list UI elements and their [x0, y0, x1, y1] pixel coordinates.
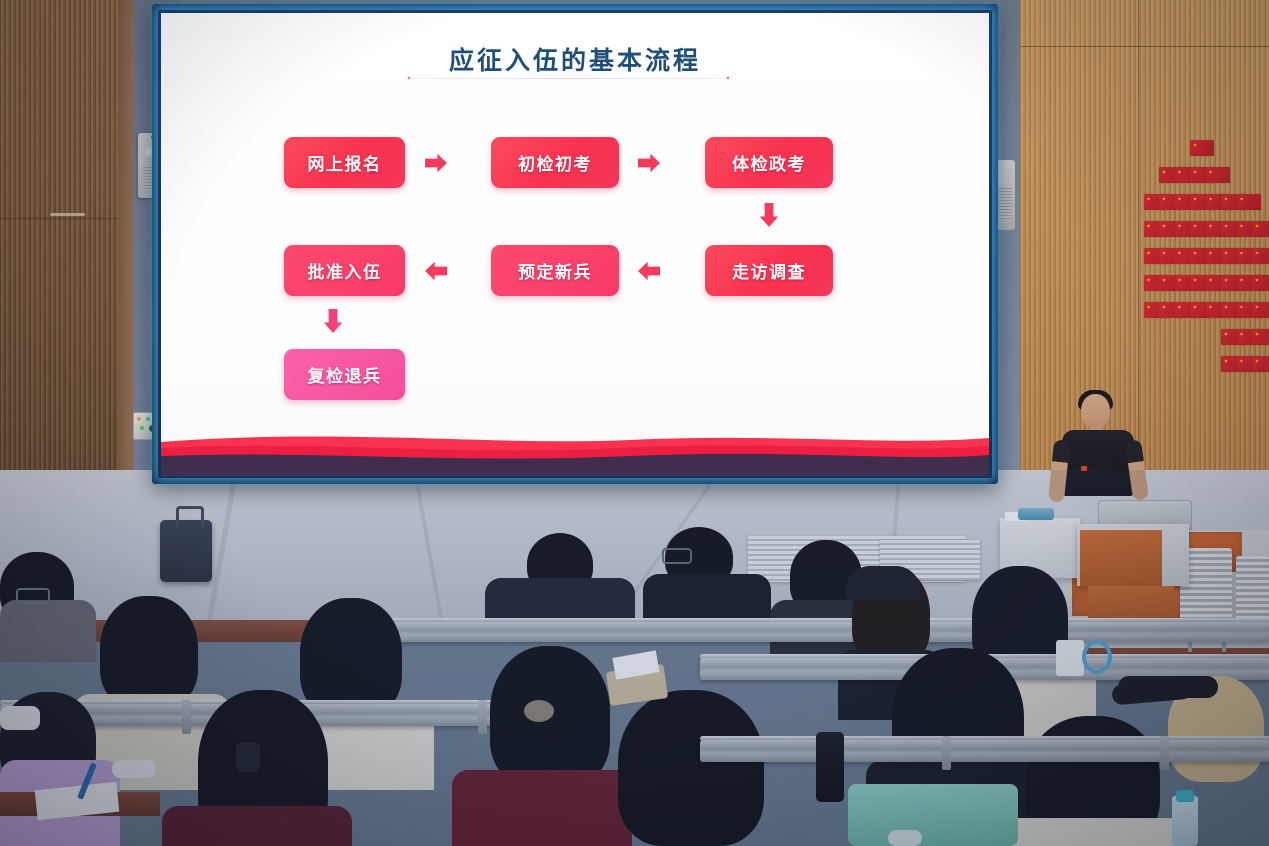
face-mask-icon: [0, 706, 40, 730]
student-body: [1004, 818, 1184, 846]
teal-backpack: [848, 784, 1018, 846]
china-flag-icon: [1252, 275, 1269, 291]
flow-step-4: 走访调查: [705, 245, 833, 296]
glasses-icon: [662, 548, 692, 564]
flow-step-7: 复检退兵: [284, 349, 405, 400]
podium-blue-item: [1018, 508, 1054, 520]
desk-row: [330, 622, 1269, 642]
paper-cup: [1056, 640, 1084, 676]
podium-front-panel: [1080, 530, 1162, 586]
projection-screen: 应征入伍的基本流程 网上报名 初检初考 体检政考 走访调查 预定新兵 批准入伍 …: [152, 4, 998, 484]
wooden-wall-left: [0, 0, 120, 470]
connector-arrow-right-1: [425, 153, 447, 173]
china-flag-icon: [1252, 356, 1269, 372]
student-head: [300, 598, 402, 716]
speaker-grill-icon: [998, 186, 1012, 220]
desk-bracket: [182, 700, 191, 734]
bottle-cap: [1176, 790, 1194, 802]
student-body: [0, 600, 96, 662]
china-flag-icon: [1252, 248, 1269, 264]
desk-bracket: [1160, 736, 1169, 770]
china-flag-icon: [1252, 221, 1269, 237]
student-body: [162, 806, 352, 846]
student-head: [618, 690, 764, 846]
presentation-slide: 应征入伍的基本流程 网上报名 初检初考 体检政考 走访调查 预定新兵 批准入伍 …: [161, 13, 989, 476]
slide-title: 应征入伍的基本流程: [161, 41, 989, 77]
student-body: [452, 770, 632, 846]
flow-step-5: 预定新兵: [491, 245, 619, 296]
status-led-amber: [137, 417, 141, 421]
shirt-badge-icon: [1081, 466, 1087, 471]
china-flag-icon: [1252, 302, 1269, 318]
flow-step-1: 网上报名: [284, 137, 405, 188]
flow-step-2: 初检初考: [491, 137, 619, 188]
suitcase-handle: [176, 506, 204, 527]
desk-bracket: [942, 736, 951, 770]
connector-arrow-left-1: [638, 261, 660, 281]
connector-arrow-right-2: [638, 153, 660, 173]
flow-step-6: 批准入伍: [284, 245, 405, 296]
status-led-green: [146, 417, 150, 421]
title-divider: [409, 78, 732, 79]
wall-edge-trim: [118, 0, 134, 470]
connector-arrow-down-1: [759, 203, 779, 227]
stacked-chairs-2: [1236, 556, 1269, 626]
hair-clip-icon: [236, 742, 260, 772]
china-flag-icon: [1206, 167, 1230, 183]
flag-wall-art: [1128, 140, 1269, 390]
wall-control-panel-right[interactable]: [995, 160, 1015, 230]
connector-arrow-left-2: [425, 261, 447, 281]
china-flag-icon: [1190, 140, 1214, 156]
hair-tie-icon: [524, 700, 554, 722]
student-head: [100, 596, 198, 708]
cap-icon: [846, 566, 920, 600]
backpack-logo: [888, 830, 922, 846]
pencil-case: [112, 760, 156, 778]
status-led-green-2: [140, 426, 144, 430]
china-flag-icon: [1237, 194, 1261, 210]
water-bottle: [1172, 796, 1198, 846]
china-flag-icon: [1252, 329, 1269, 345]
flow-step-3: 体检政考: [705, 137, 833, 188]
glasses-icon: [16, 588, 50, 604]
desk-row: [700, 740, 1269, 762]
presenter-torso: [1062, 430, 1134, 496]
connector-arrow-down-2: [323, 309, 343, 333]
lecture-hall-scene: 应征入伍的基本流程 网上报名 初检初考 体检政考 走访调查 预定新兵 批准入伍 …: [0, 0, 1269, 846]
black-thermos: [816, 732, 844, 802]
desk-bracket: [478, 700, 487, 734]
blue-handle-icon: [1082, 640, 1112, 674]
slide-bottom-wave: [161, 416, 989, 476]
rolling-suitcase: [160, 520, 212, 582]
